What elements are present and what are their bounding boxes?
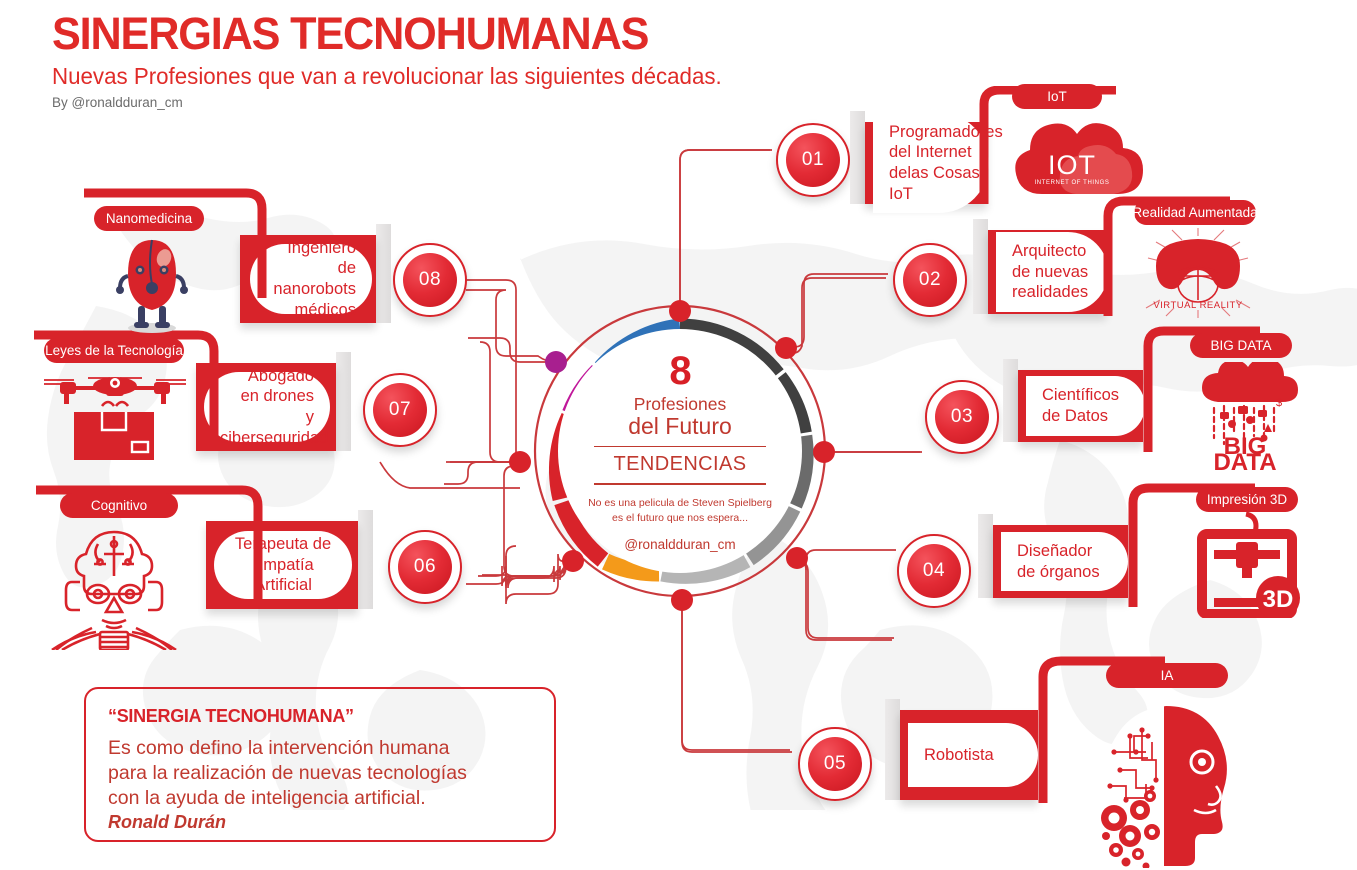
svg-text:$: $: [1276, 397, 1282, 409]
card-01-pill: Programadores del Internet delas Cosas I…: [873, 113, 989, 214]
central-note: No es una pelicula de Steven Spielberg e…: [588, 496, 772, 526]
infographic-canvas: SINERGIAS TECNOHUMANAS Nuevas Profesione…: [0, 0, 1357, 870]
3d-printer-icon: 3D: [1190, 512, 1306, 618]
node-dot-01: [669, 300, 691, 322]
cognitive-head-icon: [44, 520, 184, 650]
node-dot-08: [545, 351, 567, 373]
quote-title: “SINERGIA TECNOHUMANA”: [108, 706, 532, 727]
topic-label-realidad-aumentada: Realidad Aumentada: [1134, 200, 1256, 225]
badge-02[interactable]: 02: [893, 243, 967, 317]
node-dot-03: [813, 441, 835, 463]
nanorobot-icon: [106, 232, 198, 336]
card-02-body: Arquitecto de nuevas realidades: [988, 230, 1106, 314]
central-content: 8 Profesiones del Futuro TENDENCIAS No e…: [558, 329, 802, 573]
page-subtitle: Nuevas Profesiones que van a revoluciona…: [52, 63, 722, 90]
topic-label-ia: IA: [1106, 663, 1228, 688]
card-04[interactable]: Diseñador de órganos: [993, 525, 1128, 598]
card-08-side: [376, 224, 391, 323]
card-02-pill: Arquitecto de nuevas realidades: [996, 232, 1108, 312]
card-04-pill: Diseñador de órganos: [1001, 532, 1128, 591]
header: SINERGIAS TECNOHUMANAS Nuevas Profesione…: [52, 8, 742, 110]
card-03-body: Científicos de Datos: [1018, 370, 1143, 442]
node-dot-02: [775, 337, 797, 359]
node-dot-07: [509, 451, 531, 473]
card-01-body: Programadores del Internet delas Cosas I…: [865, 122, 987, 204]
card-05[interactable]: Robotista: [900, 710, 1038, 800]
card-04-body: Diseñador de órganos: [993, 525, 1128, 598]
divider-bottom: [594, 483, 766, 485]
bigdata-caption-2: DATA: [1213, 449, 1276, 470]
badge-04[interactable]: 04: [897, 534, 971, 608]
card-03-side: [1003, 359, 1018, 442]
card-04-side: [978, 514, 993, 598]
delivery-drone-icon: [40, 366, 190, 464]
topic-label-leyes-tecnologia: Leyes de la Tecnología: [44, 338, 184, 363]
card-03[interactable]: Científicos de Datos: [1018, 370, 1143, 442]
badge-06[interactable]: 06: [388, 530, 462, 604]
vr-headset-icon: VIRTUAL REALITY: [1140, 228, 1256, 318]
quote-box: “SINERGIA TECNOHUMANA” Es como defino la…: [84, 687, 556, 842]
quote-author: Ronald Durán: [108, 811, 532, 834]
big-data-cloud-icon: $ BIG DATA: [1190, 362, 1300, 470]
card-02-side: [973, 219, 988, 314]
divider-top: [594, 446, 766, 448]
central-handle: @ronaldduran_cm: [624, 537, 735, 552]
printer-3d-caption: 3D: [1263, 586, 1294, 613]
badge-05[interactable]: 05: [798, 727, 872, 801]
card-05-body: Robotista: [900, 710, 1038, 800]
card-05-pill: Robotista: [908, 723, 1038, 787]
card-07-side: [336, 352, 351, 451]
card-02[interactable]: Arquitecto de nuevas realidades: [988, 230, 1106, 314]
badge-03[interactable]: 03: [925, 380, 999, 454]
node-dot-04: [786, 547, 808, 569]
card-05-side: [885, 699, 900, 800]
node-dot-05: [671, 589, 693, 611]
central-number: 8: [669, 355, 690, 388]
byline: By @ronaldduran_cm: [52, 95, 742, 110]
topic-label-impresion-3d: Impresión 3D: [1196, 487, 1298, 512]
topic-label-iot: IoT: [1012, 84, 1102, 109]
node-dot-06: [562, 550, 584, 572]
topic-label-cognitivo: Cognitivo: [60, 493, 178, 518]
central-label: TENDENCIAS: [614, 453, 747, 476]
iot-caption: IOT: [1048, 150, 1096, 180]
card-06-side: [358, 510, 373, 609]
topic-label-nanomedicina: Nanomedicina: [94, 206, 204, 231]
central-line1: Profesiones: [634, 394, 726, 415]
ai-head-icon: [1090, 690, 1240, 868]
vr-caption: VIRTUAL REALITY: [1153, 300, 1242, 311]
topic-label-big-data: BIG DATA: [1190, 333, 1292, 358]
card-03-pill: Científicos de Datos: [1026, 376, 1145, 435]
quote-text: Es como defino la intervención humana pa…: [108, 736, 532, 834]
page-title: SINERGIAS TECNOHUMANAS: [52, 8, 715, 60]
card-07-pill: Abogado en drones y ciberseguridad: [204, 372, 330, 442]
central-line2: del Futuro: [628, 413, 732, 440]
badge-08[interactable]: 08: [393, 243, 467, 317]
card-01-side: [850, 111, 865, 204]
iot-subcaption: INTERNET OF THINGS: [1035, 180, 1110, 186]
badge-07[interactable]: 07: [363, 373, 437, 447]
iot-cloud-icon: IOT INTERNET OF THINGS: [1006, 116, 1146, 202]
card-01[interactable]: Programadores del Internet delas Cosas I…: [865, 122, 987, 204]
badge-01[interactable]: 01: [776, 123, 850, 197]
